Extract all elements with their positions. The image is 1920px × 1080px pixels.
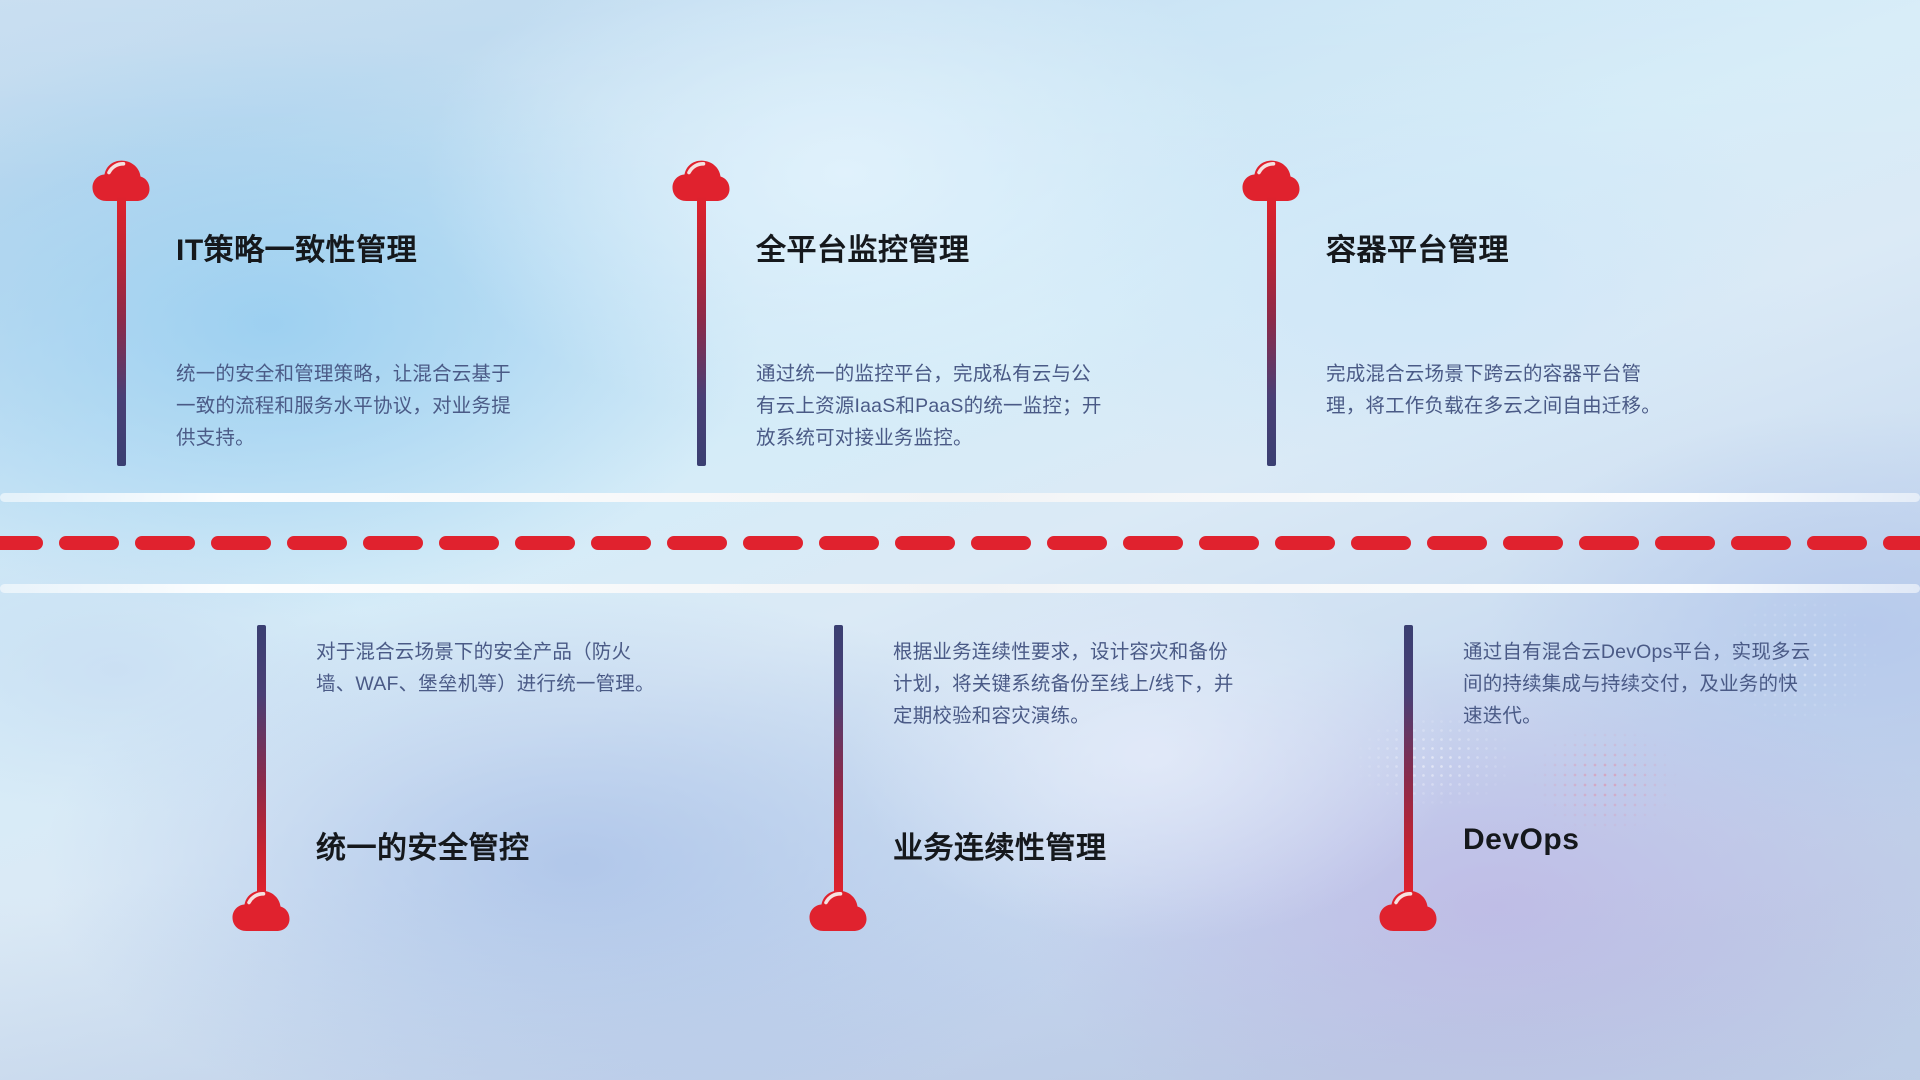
panel-body: 通过统一的监控平台，完成私有云与公有云上资源IaaS和PaaS的统一监控；开放系… <box>756 358 1108 454</box>
panel-body: 统一的安全和管理策略，让混合云基于一致的流程和服务水平协议，对业务提供支持。 <box>176 358 528 454</box>
connector-stem <box>697 196 706 466</box>
divider-rail-top <box>0 493 1920 502</box>
panel-body: 对于混合云场景下的安全产品（防火墙、WAF、堡垒机等）进行统一管理。 <box>316 636 668 700</box>
panel-body: 完成混合云场景下跨云的容器平台管理，将工作负载在多云之间自由迁移。 <box>1326 358 1678 422</box>
panel-title: 全平台监控管理 <box>756 225 970 269</box>
connector-stem <box>117 196 126 466</box>
panel-title: 业务连续性管理 <box>893 823 1107 867</box>
connector-stem <box>257 625 266 895</box>
panel-body: 根据业务连续性要求，设计容灾和备份计划，将关键系统备份至线上/线下，并定期校验和… <box>893 636 1245 732</box>
connector-stem <box>1404 625 1413 895</box>
divider-dashed-line <box>0 531 1920 555</box>
panel-body: 通过自有混合云DevOps平台，实现多云间的持续集成与持续交付，及业务的快速迭代… <box>1463 636 1815 732</box>
panel-title: IT策略一致性管理 <box>176 225 417 269</box>
connector-stem <box>1267 196 1276 466</box>
connector-stem <box>834 625 843 895</box>
divider <box>0 488 1920 598</box>
panel-title: 统一的安全管控 <box>316 823 530 867</box>
cloud-icon <box>232 890 290 932</box>
cloud-icon <box>1379 890 1437 932</box>
divider-rail-bottom <box>0 584 1920 593</box>
panel-title: 容器平台管理 <box>1326 225 1509 269</box>
panel-title: DevOps <box>1463 823 1579 857</box>
cloud-icon <box>809 890 867 932</box>
